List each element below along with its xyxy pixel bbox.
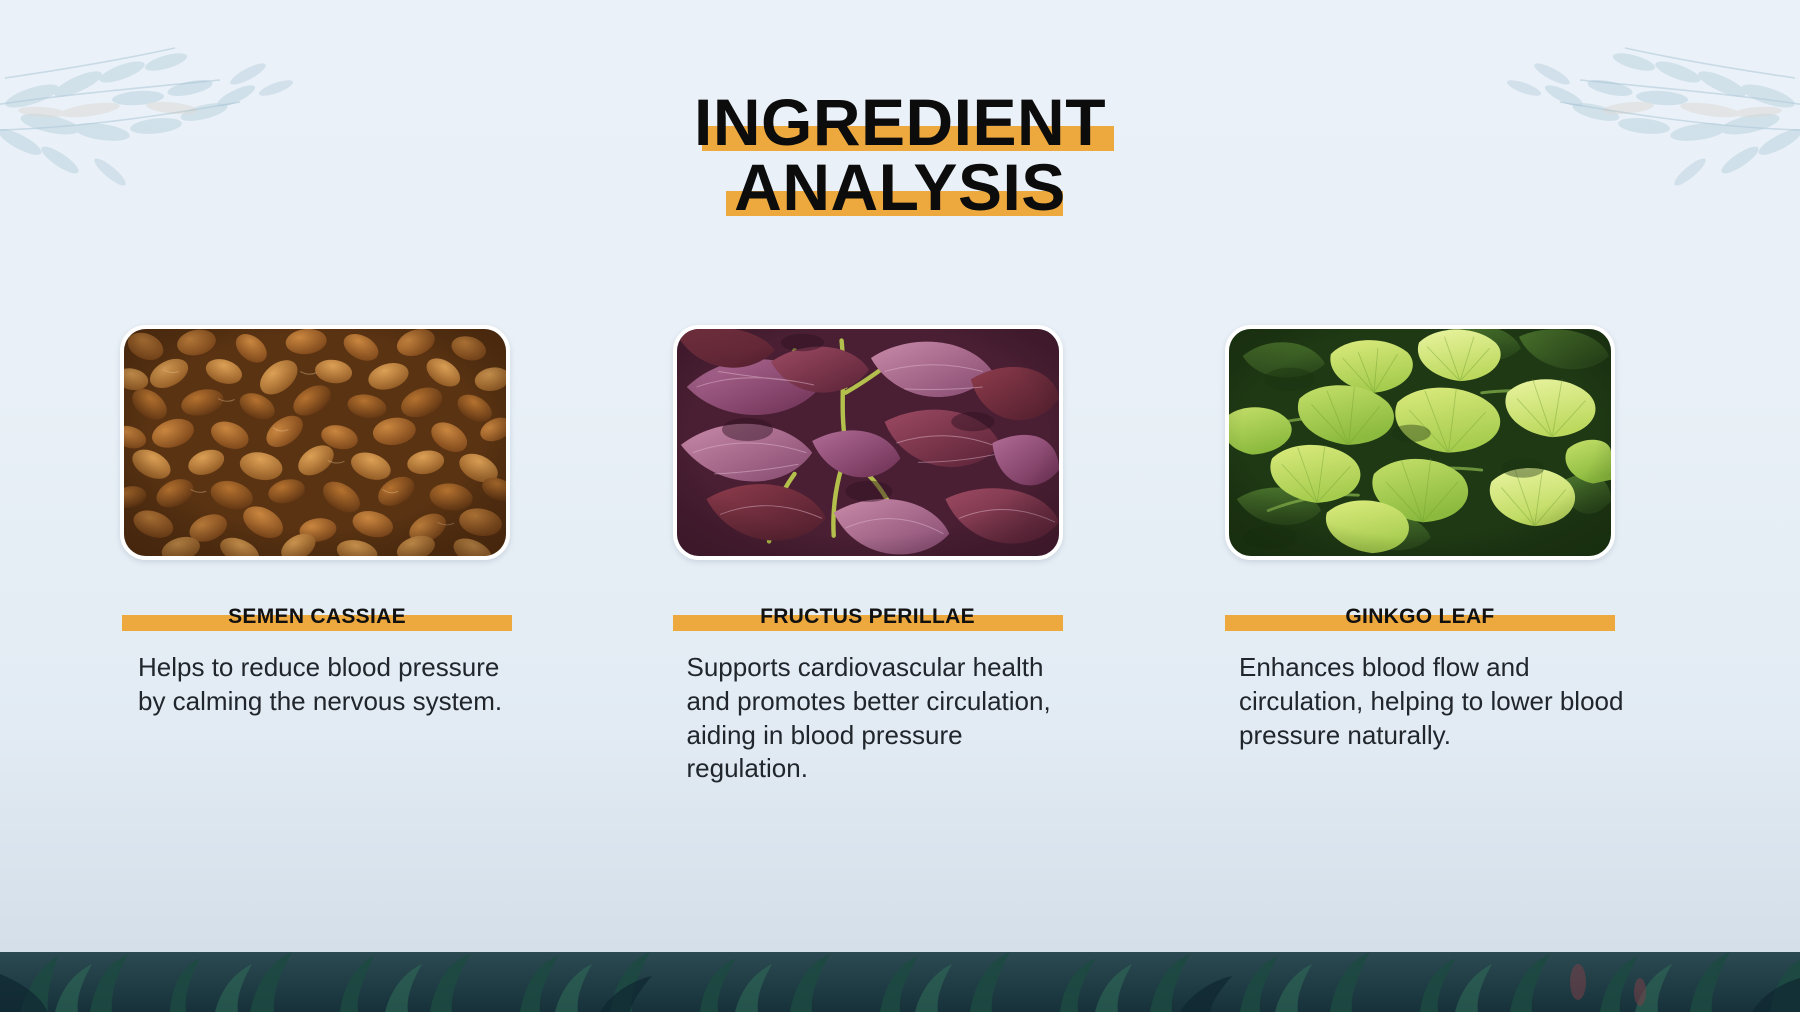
ingredient-label: SEMEN CASSIAE [228, 605, 406, 629]
ingredient-card: FRUCTUS PERILLAE Supports cardiovascular… [673, 325, 1128, 786]
title-line-1: INGREDIENT [688, 90, 1112, 155]
ingredient-label-row: SEMEN CASSIAE [122, 600, 512, 634]
ingredient-card-list: SEMEN CASSIAE Helps to reduce blood pres… [120, 325, 1680, 786]
ingredient-label: FRUCTUS PERILLAE [760, 605, 975, 629]
title-line-1-text: INGREDIENT [694, 85, 1106, 159]
ingredient-label: GINKGO LEAF [1345, 605, 1494, 629]
ingredient-label-row: FRUCTUS PERILLAE [673, 600, 1063, 634]
ingredient-label-row: GINKGO LEAF [1225, 600, 1615, 634]
title-line-2: ANALYSIS [728, 155, 1072, 220]
ingredient-description: Helps to reduce blood pressure by calmin… [120, 651, 520, 719]
bottom-foliage-band [0, 952, 1800, 1012]
slide-root: INGREDIENT ANALYSIS [0, 0, 1800, 1012]
ingredient-card: SEMEN CASSIAE Helps to reduce blood pres… [120, 325, 575, 786]
cassia-seeds-photo [120, 325, 510, 560]
perilla-leaves-photo [673, 325, 1063, 560]
ingredient-card: GINKGO LEAF Enhances blood flow and circ… [1225, 325, 1680, 786]
title-line-2-text: ANALYSIS [734, 150, 1066, 224]
ginkgo-leaves-photo [1225, 325, 1615, 560]
page-title: INGREDIENT ANALYSIS [0, 90, 1800, 219]
ingredient-description: Supports cardiovascular health and promo… [673, 651, 1073, 786]
ingredient-description: Enhances blood flow and circulation, hel… [1225, 651, 1625, 752]
